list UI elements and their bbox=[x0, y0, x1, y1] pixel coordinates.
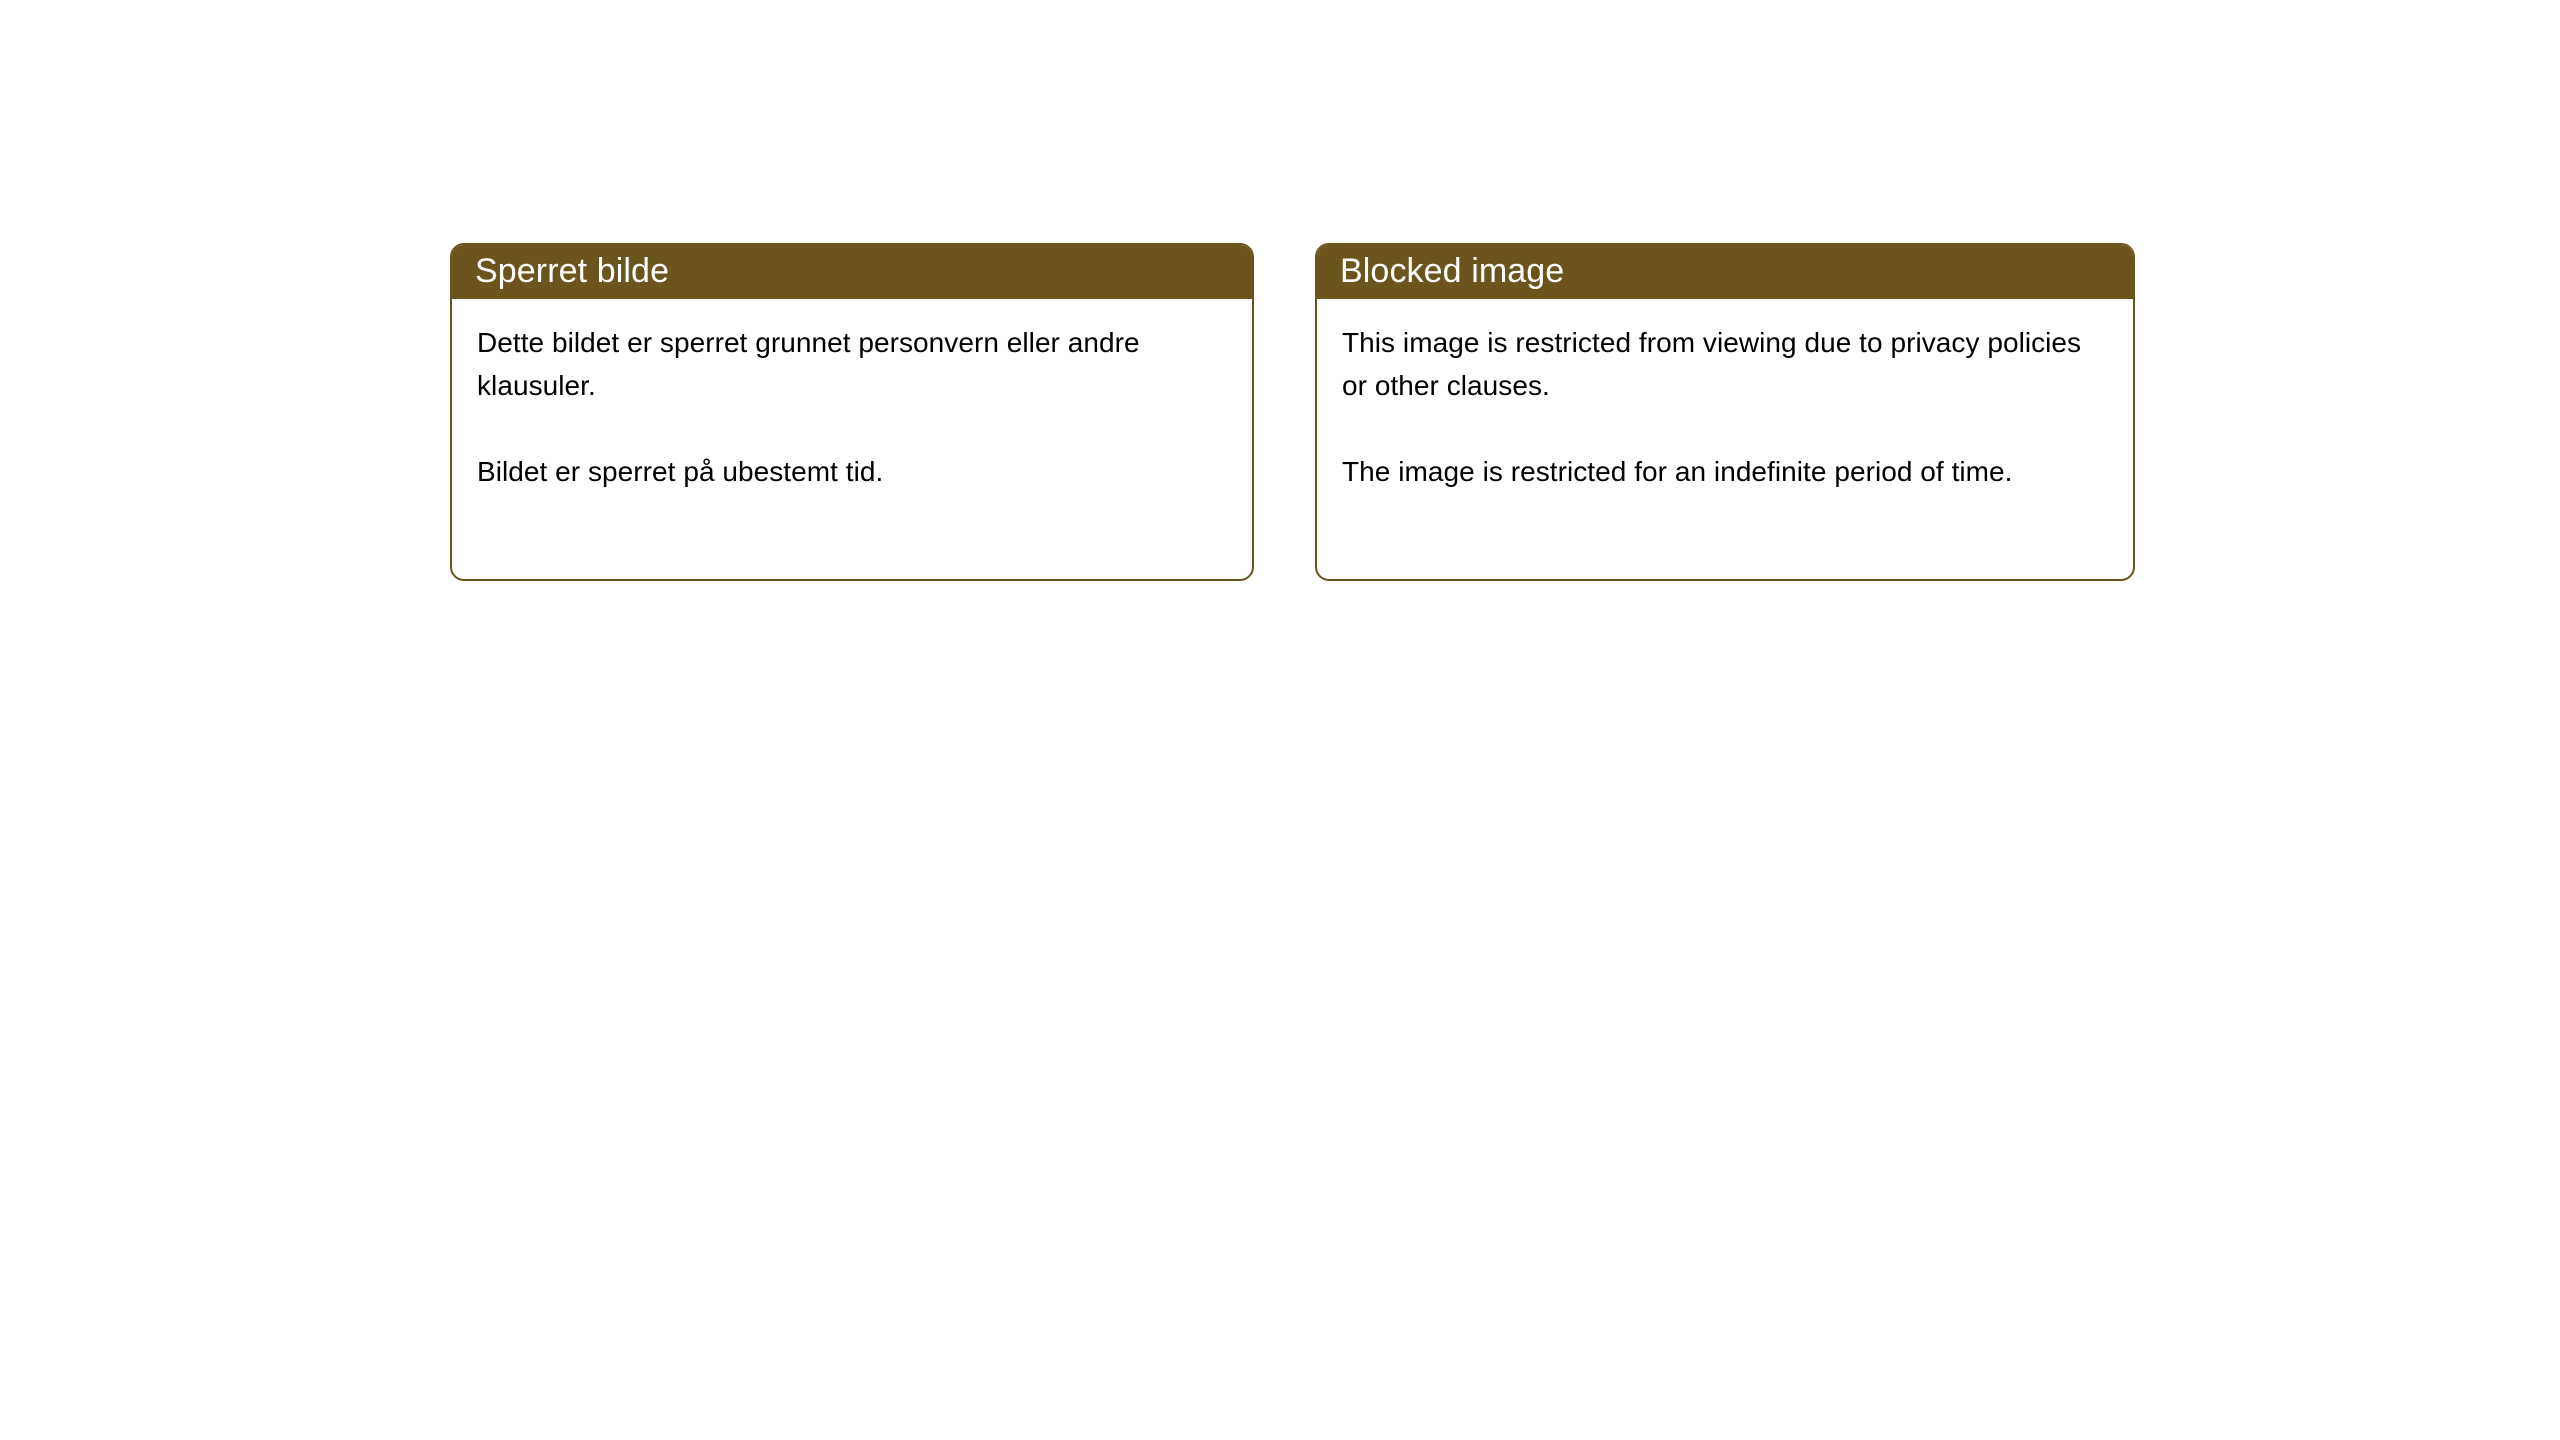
card-body-norwegian: Dette bildet er sperret grunnet personve… bbox=[452, 299, 1252, 493]
page-canvas: Sperret bilde Dette bildet er sperret gr… bbox=[0, 0, 2560, 1440]
blocked-image-notice-card-norwegian: Sperret bilde Dette bildet er sperret gr… bbox=[450, 243, 1254, 581]
card-paragraph-primary-english: This image is restricted from viewing du… bbox=[1342, 321, 2111, 407]
card-paragraph-secondary-norwegian: Bildet er sperret på ubestemt tid. bbox=[477, 450, 1230, 493]
card-header-norwegian: Sperret bilde bbox=[450, 243, 1254, 299]
blocked-image-notice-card-english: Blocked image This image is restricted f… bbox=[1315, 243, 2135, 581]
card-title-norwegian: Sperret bilde bbox=[475, 252, 669, 290]
card-paragraph-primary-norwegian: Dette bildet er sperret grunnet personve… bbox=[477, 321, 1230, 407]
card-body-english: This image is restricted from viewing du… bbox=[1317, 299, 2133, 493]
card-header-english: Blocked image bbox=[1315, 243, 2135, 299]
card-title-english: Blocked image bbox=[1340, 252, 1564, 290]
card-paragraph-secondary-english: The image is restricted for an indefinit… bbox=[1342, 450, 2111, 493]
